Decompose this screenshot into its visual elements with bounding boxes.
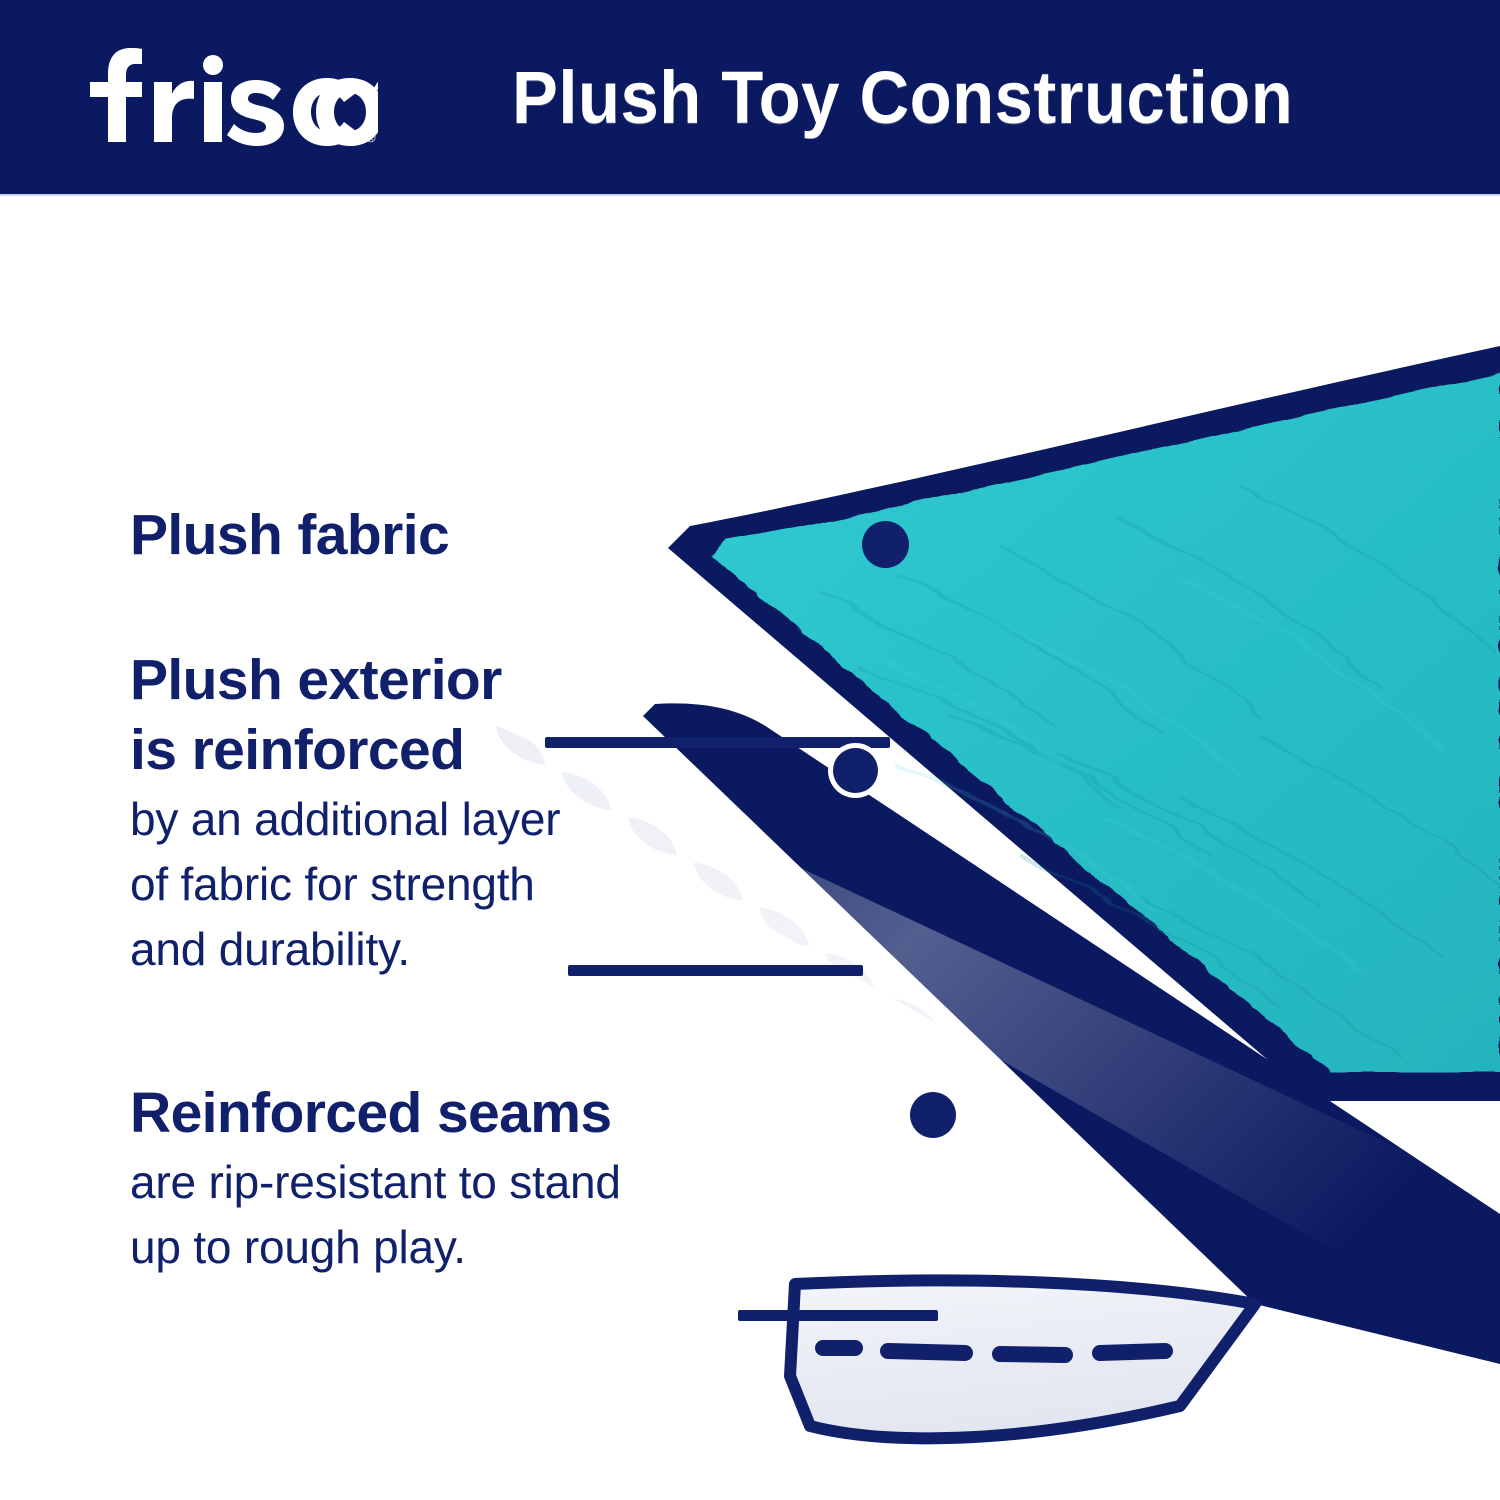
registered-trademark-mark: ® <box>366 130 376 145</box>
marker-dot-plush-fabric <box>862 521 909 568</box>
callout-heading-plush-fabric: Plush fabric <box>130 500 449 570</box>
callout-heading-plush-exterior: Plush exterior is reinforced <box>130 645 560 785</box>
marker-dot-plush-exterior <box>833 748 878 793</box>
header-bar: ® Plush Toy Construction <box>0 0 1500 196</box>
callout-plush-exterior: Plush exterior is reinforced by an addit… <box>130 645 560 982</box>
leader-line-plush-exterior <box>568 965 863 976</box>
page-title: Plush Toy Construction <box>512 48 1293 148</box>
reinforced-seam-flap <box>790 1280 1255 1438</box>
marker-dot-reinforced-seams <box>910 1092 956 1138</box>
leader-line-reinforced-seams <box>738 1310 938 1321</box>
callout-reinforced-seams: Reinforced seams are rip-resistant to st… <box>130 1078 621 1280</box>
callout-heading-reinforced-seams: Reinforced seams <box>130 1078 621 1148</box>
callout-body-reinforced-seams: are rip-resistant to stand up to rough p… <box>130 1150 621 1280</box>
frisco-logo: ® <box>78 42 378 152</box>
leader-line-plush-fabric <box>545 737 890 748</box>
callout-body-plush-exterior: by an additional layer of fabric for str… <box>130 787 560 982</box>
callout-plush-fabric: Plush fabric <box>130 500 449 570</box>
